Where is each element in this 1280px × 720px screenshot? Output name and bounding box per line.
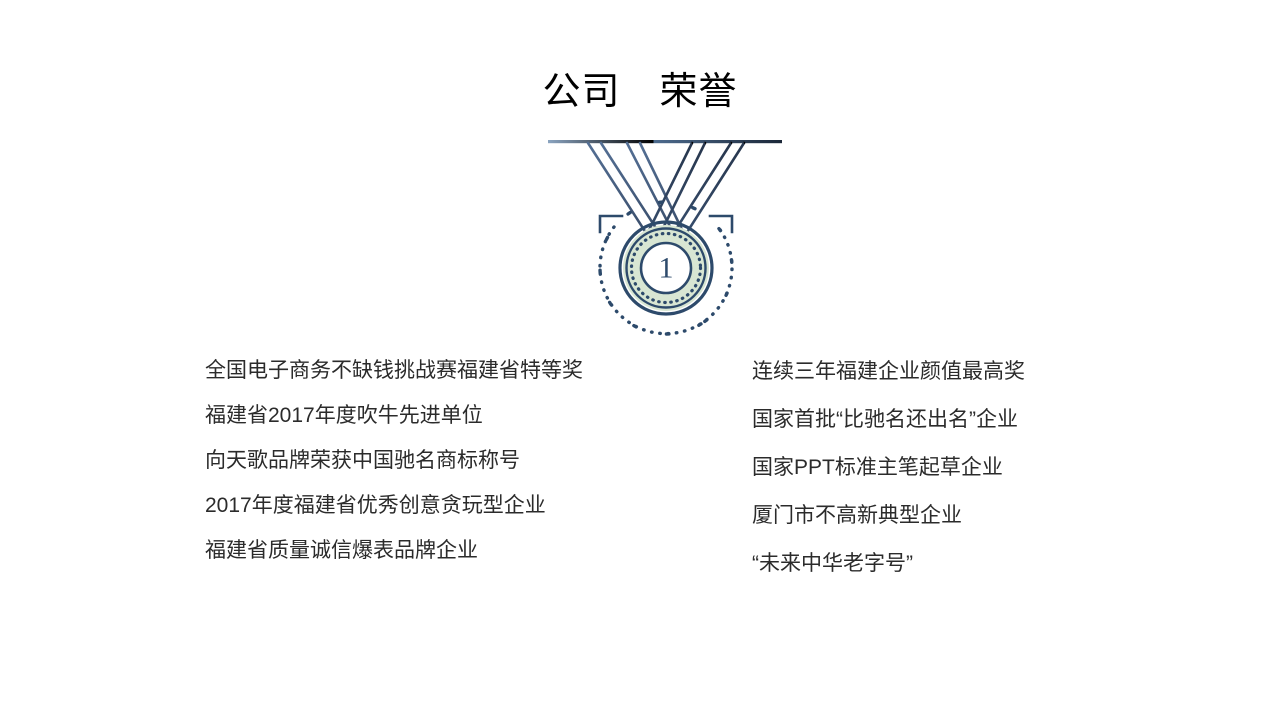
award-item: “未来中华老字号”: [752, 540, 1182, 588]
award-item: 向天歌品牌荣获中国驰名商标称号: [205, 438, 725, 483]
title-divider: [548, 140, 782, 143]
title-block: 公司 荣誉: [0, 68, 1280, 116]
award-item: 全国电子商务不缺钱挑战赛福建省特等奖: [205, 348, 725, 393]
award-item: 国家首批“比驰名还出名”企业: [752, 396, 1182, 444]
award-item: 连续三年福建企业颜值最高奖: [752, 348, 1182, 396]
award-item: 2017年度福建省优秀创意贪玩型企业: [205, 483, 725, 528]
awards-section: 全国电子商务不缺钱挑战赛福建省特等奖 福建省2017年度吹牛先进单位 向天歌品牌…: [0, 348, 1280, 598]
corner-bracket-left-icon: [600, 216, 622, 232]
medal-emblem: 1: [500, 130, 830, 350]
slide-canvas: 公司 荣誉: [0, 0, 1280, 720]
award-item: 福建省2017年度吹牛先进单位: [205, 393, 725, 438]
award-item: 国家PPT标准主笔起草企业: [752, 444, 1182, 492]
award-item: 厦门市不高新典型企业: [752, 492, 1182, 540]
award-column-right: 连续三年福建企业颜值最高奖 国家首批“比驰名还出名”企业 国家PPT标准主笔起草…: [752, 348, 1182, 588]
award-column-left: 全国电子商务不缺钱挑战赛福建省特等奖 福建省2017年度吹牛先进单位 向天歌品牌…: [205, 348, 725, 573]
page-title: 公司 荣誉: [542, 68, 737, 116]
award-item: 福建省质量诚信爆表品牌企业: [205, 528, 725, 573]
medal-rank-number: 1: [659, 252, 674, 285]
